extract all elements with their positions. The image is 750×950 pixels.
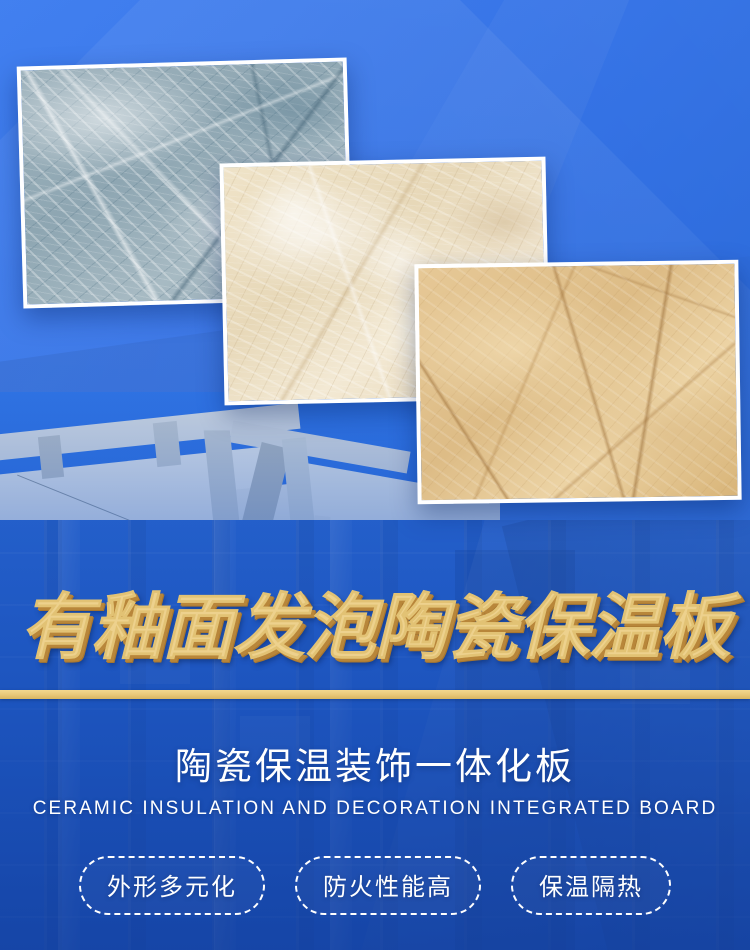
feature-badge-shape-variety[interactable]: 外形多元化 bbox=[79, 856, 265, 915]
subtitle-english: CERAMIC INSULATION AND DECORATION INTEGR… bbox=[0, 798, 750, 820]
page-title: 有釉面发泡陶瓷保温板 bbox=[0, 588, 750, 668]
feature-badge-fire-resistance[interactable]: 防火性能高 bbox=[295, 856, 481, 915]
gold-divider bbox=[0, 690, 750, 699]
product-banner-poster: 有釉面发泡陶瓷保温板 陶瓷保温装饰一体化板 CERAMIC INSULATION… bbox=[0, 0, 750, 950]
tan-gold-marble-tile[interactable] bbox=[414, 260, 741, 505]
tan-gold-marble-veins bbox=[418, 264, 737, 500]
feature-badge-thermal-insulation[interactable]: 保温隔热 bbox=[511, 856, 671, 915]
subtitle-chinese: 陶瓷保温装饰一体化板 bbox=[0, 744, 750, 790]
feature-badge-list: 外形多元化 防火性能高 保温隔热 bbox=[0, 856, 750, 915]
